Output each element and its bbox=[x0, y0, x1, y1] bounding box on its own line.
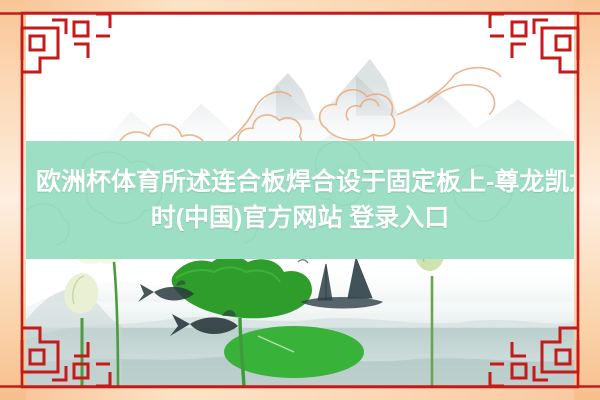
ink-sailboat bbox=[302, 258, 382, 308]
frame-edge-bottom bbox=[0, 386, 600, 400]
art-panel: 欧洲杯体育所述连合板焊合设于固定板上-尊龙凯龙 时(中国)官方网站 登录入口 bbox=[26, 14, 574, 386]
banner-title-line-1: 欧洲杯体育所述连合板焊合设于固定板上-尊龙凯龙 bbox=[30, 164, 570, 200]
ink-fish-2 bbox=[170, 310, 238, 336]
title-wrap: 欧洲杯体育所述连合板焊合设于固定板上-尊龙凯龙 时(中国)官方网站 登录入口 bbox=[26, 164, 574, 236]
frame-edge-top bbox=[0, 0, 600, 14]
frame-edge-right bbox=[574, 0, 600, 400]
frame-edge-left bbox=[0, 0, 26, 400]
banner-image: 欧洲杯体育所述连合板焊合设于固定板上-尊龙凯龙 时(中国)官方网站 登录入口 bbox=[0, 0, 600, 400]
title-band: 欧洲杯体育所述连合板焊合设于固定板上-尊龙凯龙 时(中国)官方网站 登录入口 bbox=[26, 141, 574, 259]
banner-title-line-2: 时(中国)官方网站 登录入口 bbox=[30, 200, 570, 236]
